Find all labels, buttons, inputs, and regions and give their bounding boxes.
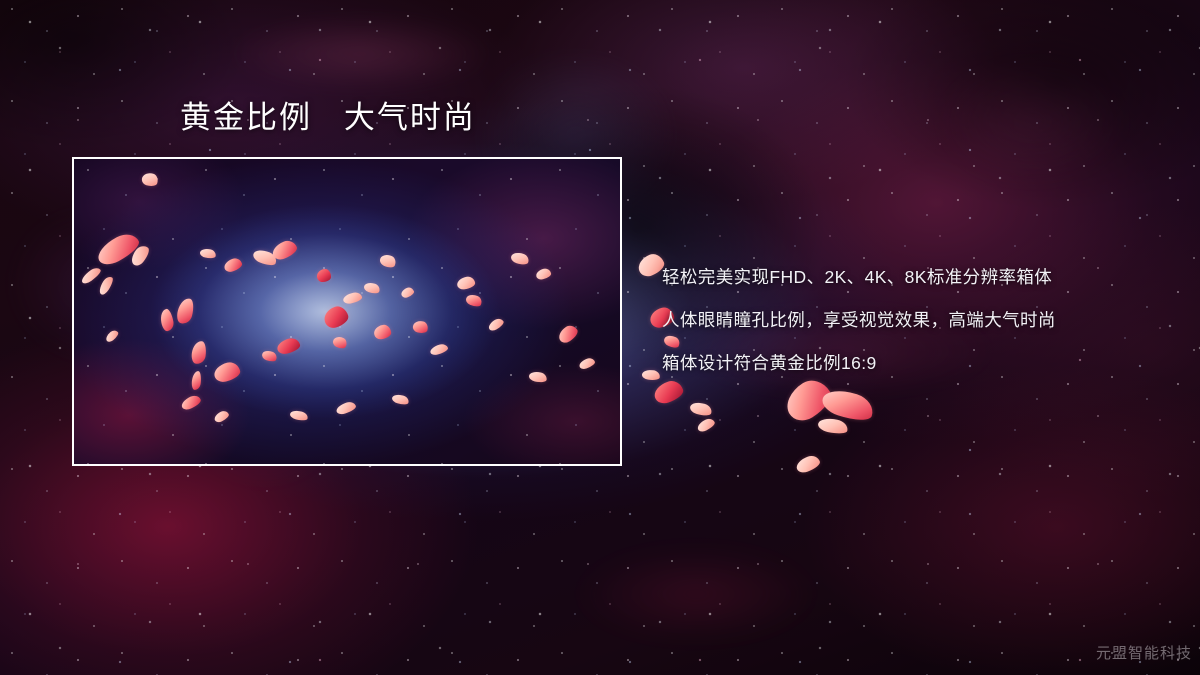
petal: [317, 269, 331, 282]
panel-starfield: [74, 159, 620, 464]
slide-canvas: 黄金比例 大气时尚 轻松完美实现FHD、2K、4K、8K标准分辨率箱体 人体眼睛…: [0, 0, 1200, 675]
slide-title: 黄金比例 大气时尚: [180, 100, 476, 137]
image-frame: [72, 157, 622, 466]
watermark: 元盟智能科技: [1096, 642, 1192, 663]
description-text: 轻松完美实现FHD、2K、4K、8K标准分辨率箱体 人体眼睛瞳孔比例，享受视觉效…: [662, 256, 1182, 385]
description-line-2: 人体眼睛瞳孔比例，享受视觉效果，高端大气时尚: [662, 299, 1182, 342]
description-line-3: 箱体设计符合黄金比例16:9: [662, 342, 1182, 385]
description-line-1: 轻松完美实现FHD、2K、4K、8K标准分辨率箱体: [662, 256, 1182, 299]
